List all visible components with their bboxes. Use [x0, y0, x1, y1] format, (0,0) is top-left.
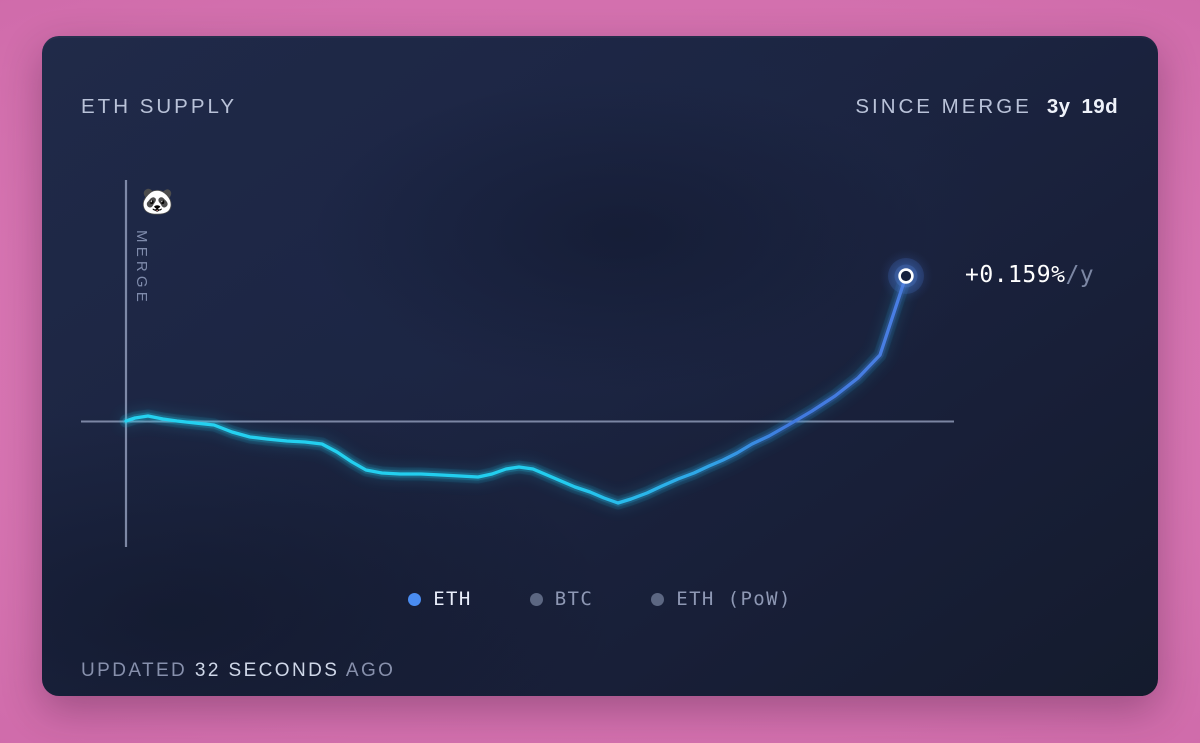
last-updated-status: UPDATED 32 SECONDS AGO	[81, 660, 395, 682]
legend-item-eth-pow[interactable]: ETH (PoW)	[651, 588, 792, 610]
legend-dot-btc	[530, 593, 543, 606]
chart-legend: ETH BTC ETH (PoW)	[0, 588, 1200, 610]
updated-unit: SECONDS	[229, 660, 340, 681]
legend-item-btc[interactable]: BTC	[530, 588, 594, 610]
legend-dot-eth	[408, 593, 421, 606]
endpoint-rate-value: +0.159%	[965, 262, 1065, 288]
endpoint-rate-unit: /y	[1065, 262, 1094, 288]
merge-axis-label: MERGE	[133, 230, 150, 306]
legend-dot-eth-pow	[651, 593, 664, 606]
eth-supply-widget: ETH SUPPLY SINCE MERGE 3y 19d	[0, 0, 1200, 743]
legend-item-eth[interactable]: ETH	[408, 588, 472, 610]
chart-plot-area: 🐼 MERGE	[0, 0, 1116, 660]
legend-label-btc: BTC	[555, 588, 594, 610]
eth-supply-line	[126, 276, 906, 503]
updated-suffix: AGO	[346, 660, 395, 681]
endpoint-rate-label: +0.159%/y	[965, 262, 1094, 288]
chart-svg	[0, 0, 1200, 743]
panda-icon: 🐼	[141, 189, 173, 215]
updated-prefix: UPDATED	[81, 660, 187, 681]
legend-label-eth: ETH	[433, 588, 472, 610]
endpoint-marker[interactable]	[900, 270, 913, 283]
updated-amount: 32	[195, 660, 221, 681]
legend-label-eth-pow: ETH (PoW)	[676, 588, 792, 610]
